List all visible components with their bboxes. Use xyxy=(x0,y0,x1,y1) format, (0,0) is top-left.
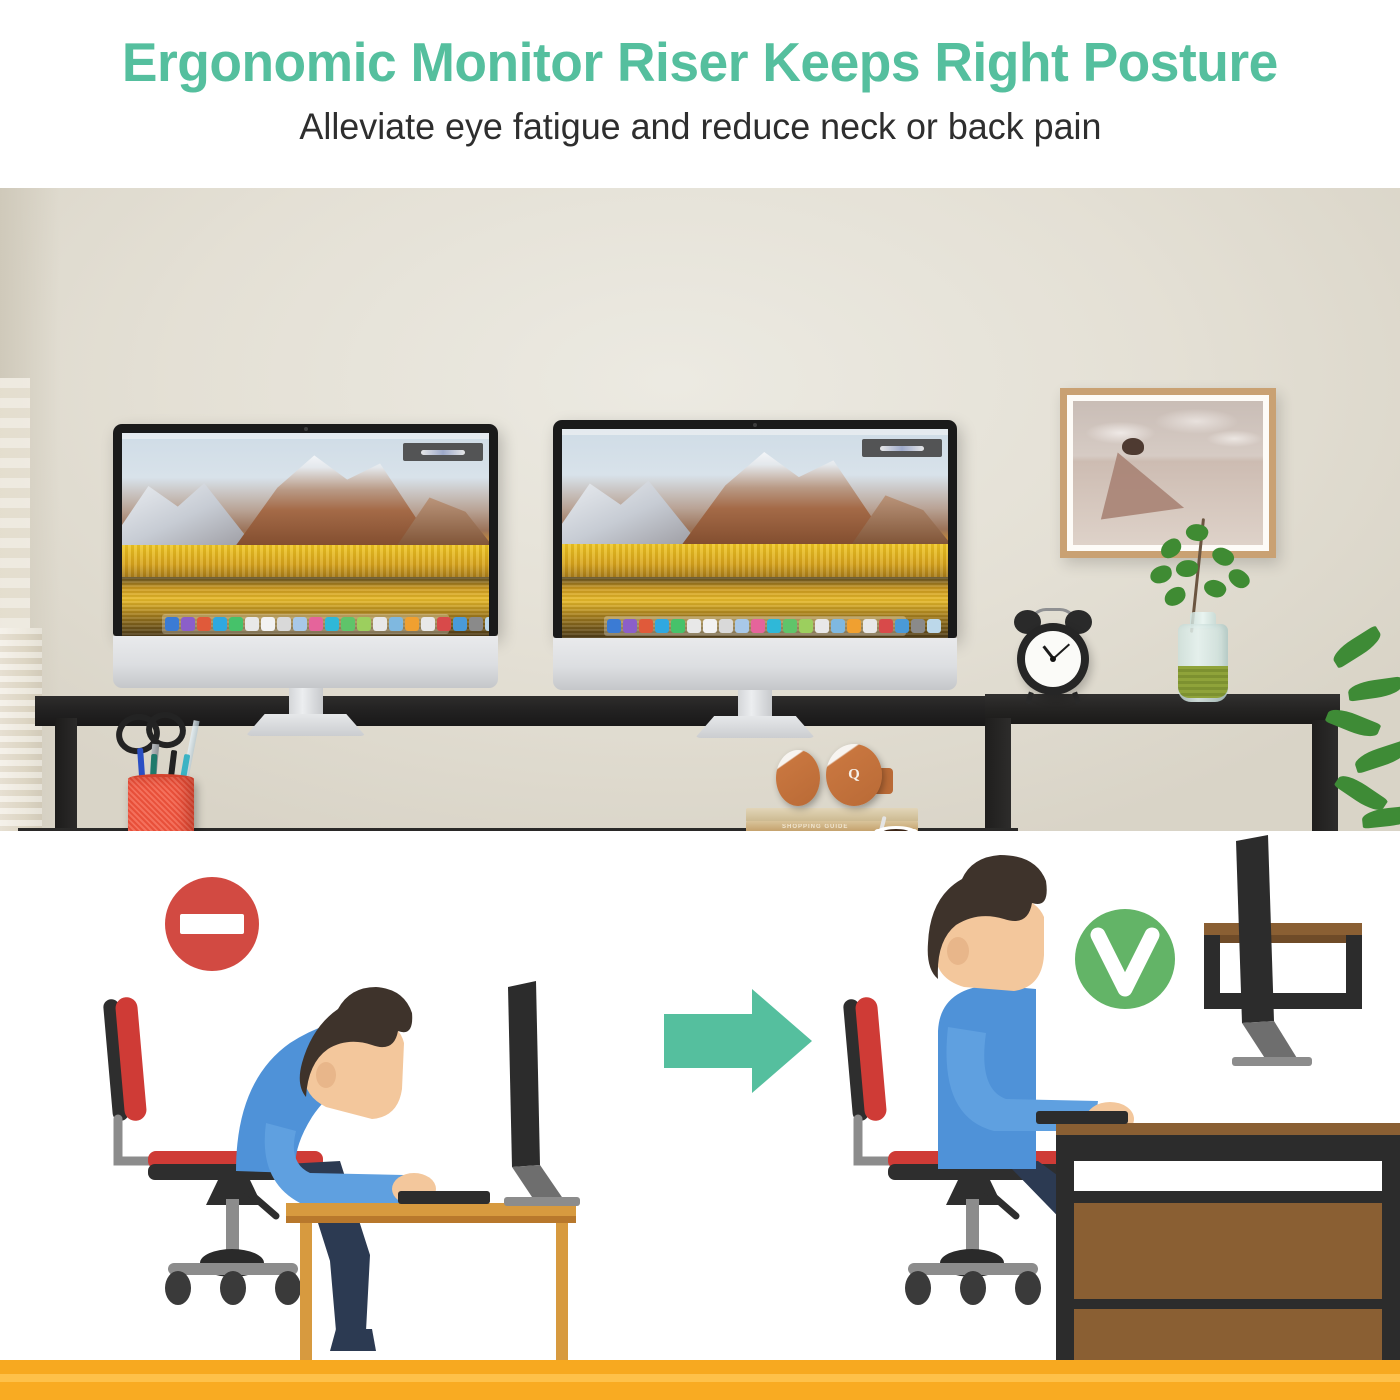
monitor-stand-foot xyxy=(695,716,815,738)
dock-app-icon[interactable] xyxy=(437,617,451,631)
lace-curtain xyxy=(0,378,30,648)
dock-app-icon[interactable] xyxy=(607,619,621,633)
dock-app-icon[interactable] xyxy=(767,619,781,633)
dock-app-icon[interactable] xyxy=(341,617,355,631)
dock-app-icon[interactable] xyxy=(277,617,291,631)
alarm-clock xyxy=(1013,608,1093,700)
webcam-icon xyxy=(753,423,757,427)
dock-app-icon[interactable] xyxy=(831,619,845,633)
product-photo: SHOPPING GUIDE THRIFT Q EPSON EPSON xyxy=(0,188,1400,831)
dock-app-icon[interactable] xyxy=(703,619,717,633)
macos-menubar xyxy=(122,433,489,439)
monitor-chin xyxy=(553,638,957,690)
monitor-screen xyxy=(122,433,489,636)
floor-strip xyxy=(0,1360,1400,1400)
page-subtitle: Alleviate eye fatigue and reduce neck or… xyxy=(299,106,1101,148)
wallpaper-left-peak xyxy=(562,475,701,546)
leaf xyxy=(1347,676,1400,701)
dock-app-icon[interactable] xyxy=(229,617,243,631)
clock-face xyxy=(1025,631,1081,687)
floor-band-top xyxy=(0,1360,1400,1374)
dock-app-icon[interactable] xyxy=(687,619,701,633)
right-monitor xyxy=(553,420,957,690)
posture-svg xyxy=(0,831,1400,1400)
floor-band-bottom xyxy=(0,1382,1400,1400)
monitor-stand-foot xyxy=(246,714,366,736)
dock-app-icon[interactable] xyxy=(639,619,653,633)
approved-badge xyxy=(1075,909,1175,1009)
dock-app-icon[interactable] xyxy=(245,617,259,631)
dock-app-icon[interactable] xyxy=(815,619,829,633)
dock-app-icon[interactable] xyxy=(895,619,909,633)
dock-app-icon[interactable] xyxy=(751,619,765,633)
framed-wall-art xyxy=(1060,388,1276,558)
dock-app-icon[interactable] xyxy=(927,619,941,633)
screen-widget xyxy=(403,443,483,461)
dock-app-icon[interactable] xyxy=(671,619,685,633)
macos-menubar xyxy=(562,429,948,435)
drawer-upper xyxy=(1074,1203,1382,1299)
dock-app-icon[interactable] xyxy=(261,617,275,631)
dock-app-icon[interactable] xyxy=(879,619,893,633)
riser-leg-center xyxy=(985,718,1011,831)
macos-dock xyxy=(604,616,905,636)
monitor-raised xyxy=(1232,835,1312,1066)
dock-app-icon[interactable] xyxy=(735,619,749,633)
monitor-bezel xyxy=(113,424,498,636)
keyboard-left-illus xyxy=(398,1191,490,1204)
art-mat xyxy=(1067,395,1269,551)
leaf xyxy=(1361,805,1400,829)
pencil-cup xyxy=(128,777,194,831)
book-subtitle: SHOPPING GUIDE xyxy=(782,824,848,830)
floor-band-middle xyxy=(0,1374,1400,1382)
dock-app-icon[interactable] xyxy=(197,617,211,631)
dock-app-icon[interactable] xyxy=(469,617,483,631)
dock-app-icon[interactable] xyxy=(799,619,813,633)
dock-app-icon[interactable] xyxy=(847,619,861,633)
dock-app-icon[interactable] xyxy=(357,617,371,631)
monitor-stand-neck xyxy=(738,690,772,720)
leaf xyxy=(1325,705,1382,742)
dock-app-icon[interactable] xyxy=(453,617,467,631)
dock-app-icon[interactable] xyxy=(421,617,435,631)
dock-app-icon[interactable] xyxy=(623,619,637,633)
leaf xyxy=(1353,740,1400,774)
left-monitor xyxy=(113,424,498,688)
art-clouds xyxy=(1073,401,1263,459)
dock-app-icon[interactable] xyxy=(485,617,489,631)
vase-rope-wrap xyxy=(1178,666,1228,698)
clock-body xyxy=(1017,623,1089,695)
dock-app-icon[interactable] xyxy=(719,619,733,633)
dock-app-icon[interactable] xyxy=(373,617,387,631)
dock-app-icon[interactable] xyxy=(783,619,797,633)
posture-comparison-illustration xyxy=(0,831,1400,1400)
keyboard-right-illus xyxy=(1036,1111,1128,1124)
monitor-low xyxy=(504,981,580,1206)
dock-app-icon[interactable] xyxy=(405,617,419,631)
dock-app-icon[interactable] xyxy=(325,617,339,631)
monitor-stand-neck xyxy=(289,688,323,718)
webcam-icon xyxy=(304,427,308,431)
screen-widget xyxy=(862,439,942,457)
dock-app-icon[interactable] xyxy=(911,619,925,633)
dock-app-icon[interactable] xyxy=(165,617,179,631)
book-top xyxy=(746,808,918,822)
monitor-chin xyxy=(113,636,498,688)
dock-app-icon[interactable] xyxy=(213,617,227,631)
clock-center-pin xyxy=(1050,656,1056,662)
leaf xyxy=(1329,625,1384,669)
wallpaper-trees xyxy=(122,545,489,577)
curtain xyxy=(0,628,42,831)
wallpaper-trees xyxy=(562,544,948,577)
dock-app-icon[interactable] xyxy=(293,617,307,631)
transition-arrow xyxy=(664,989,812,1400)
dock-app-icon[interactable] xyxy=(309,617,323,631)
macos-dock xyxy=(162,614,448,634)
page-title: Ergonomic Monitor Riser Keeps Right Post… xyxy=(122,34,1278,92)
dock-app-icon[interactable] xyxy=(655,619,669,633)
floor-plant xyxy=(1230,628,1400,831)
prohibition-badge xyxy=(165,877,259,971)
header-banner: Ergonomic Monitor Riser Keeps Right Post… xyxy=(0,0,1400,188)
headphone-logo: Q xyxy=(848,767,860,784)
dock-app-icon[interactable] xyxy=(181,617,195,631)
dock-app-icon[interactable] xyxy=(863,619,877,633)
monitor-bezel xyxy=(553,420,957,638)
person-bad-posture xyxy=(236,987,436,1351)
headphone-earcup-left xyxy=(776,750,820,806)
monitor-screen xyxy=(562,429,948,638)
riser-leg-left xyxy=(55,718,77,831)
wallpaper-left-peak xyxy=(122,478,254,547)
good-posture-group xyxy=(843,835,1400,1400)
headphone-earcup-right: Q xyxy=(826,744,882,806)
bad-posture-group xyxy=(103,877,580,1400)
art-image xyxy=(1073,401,1263,545)
dock-app-icon[interactable] xyxy=(389,617,403,631)
